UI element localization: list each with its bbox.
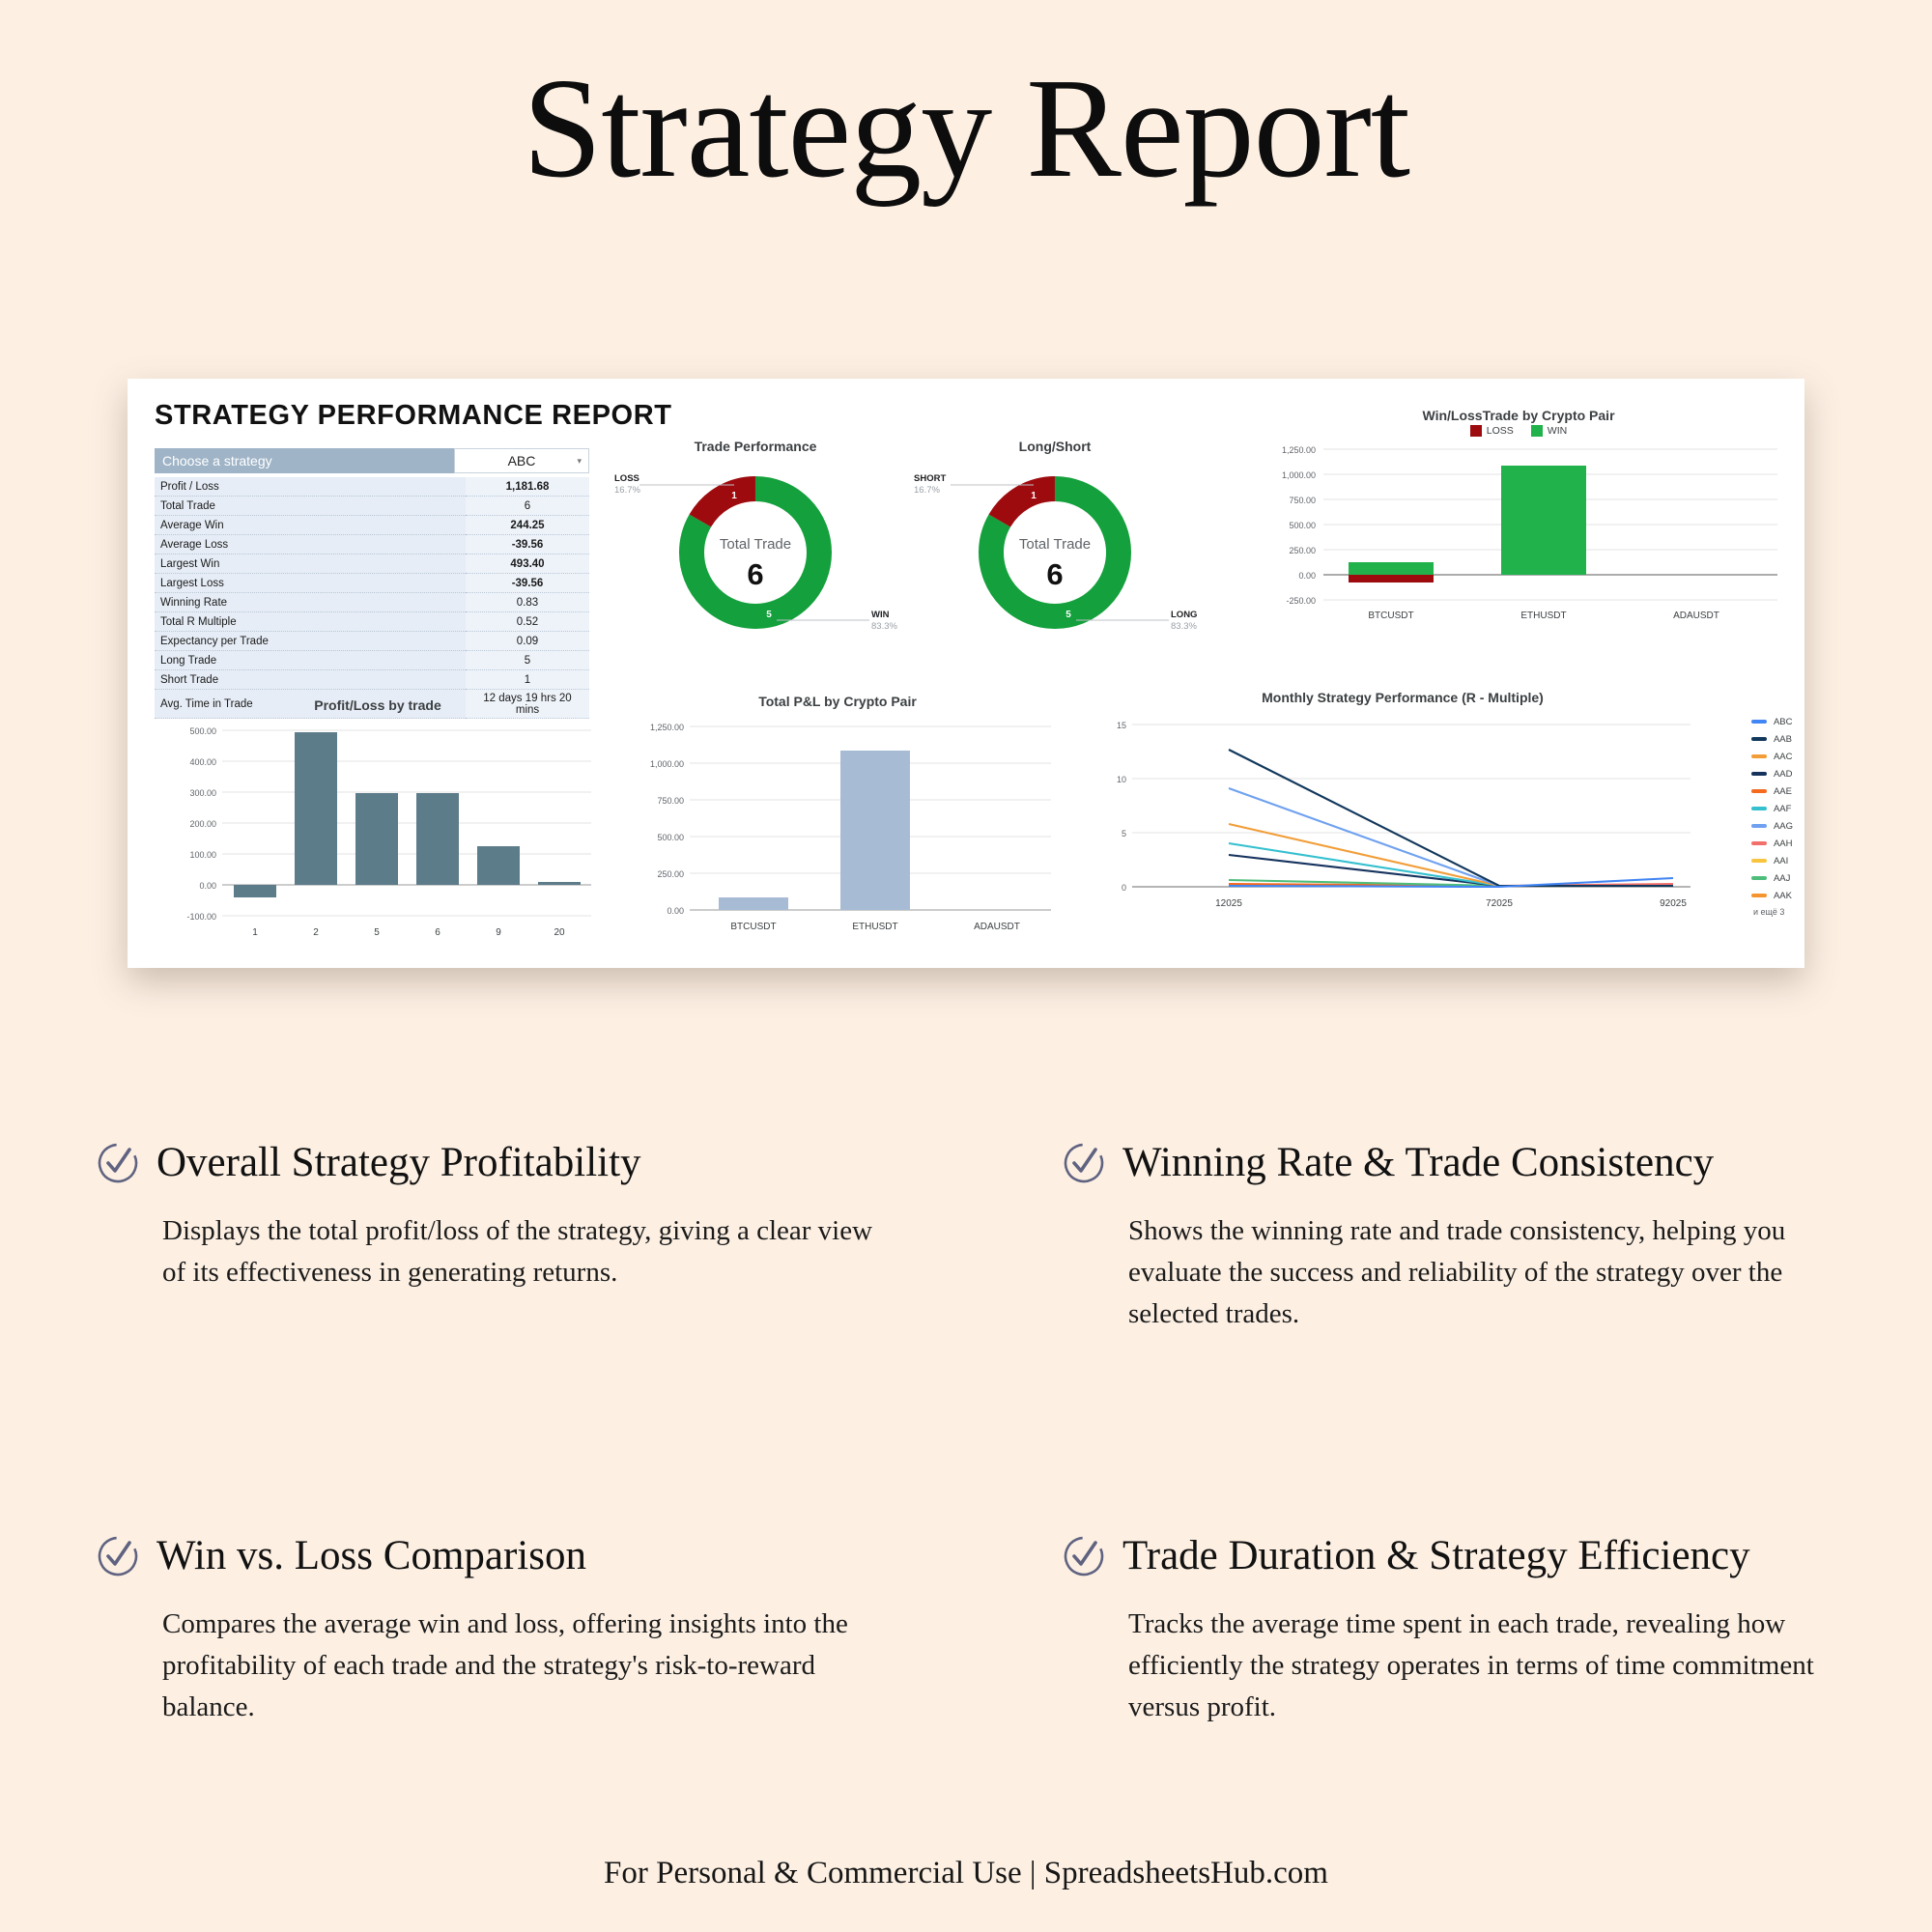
svg-text:1,000.00: 1,000.00 bbox=[650, 759, 684, 769]
feature-title: Trade Duration & Strategy Efficiency bbox=[1122, 1533, 1750, 1578]
metric-value: 5 bbox=[466, 651, 589, 670]
table-row: Largest Loss-39.56 bbox=[155, 574, 589, 593]
feature-title: Win vs. Loss Comparison bbox=[156, 1533, 586, 1578]
callout-short-percent: 16.7% bbox=[914, 485, 940, 496]
donut-loss-value: 1 bbox=[731, 491, 737, 501]
metric-label: Total R Multiple bbox=[155, 612, 466, 632]
svg-text:2: 2 bbox=[313, 927, 319, 938]
metrics-table: Profit / Loss1,181.68Total Trade6Average… bbox=[155, 477, 589, 719]
metric-value: 1 bbox=[466, 670, 589, 690]
svg-text:1,250.00: 1,250.00 bbox=[1282, 445, 1316, 455]
legend-swatch-AAG bbox=[1751, 824, 1767, 828]
table-row: Total Trade6 bbox=[155, 497, 589, 516]
legend-swatch-AAD bbox=[1751, 772, 1767, 776]
svg-text:500.00: 500.00 bbox=[1289, 521, 1316, 530]
donut-center-label: Total Trade bbox=[720, 536, 791, 553]
feature-body: Compares the average win and loss, offer… bbox=[162, 1604, 896, 1728]
svg-text:1,250.00: 1,250.00 bbox=[650, 723, 684, 732]
y-axis-ticks: 1,250.00 1,000.00 750.00 500.00 250.00 0… bbox=[1282, 445, 1316, 606]
svg-text:5: 5 bbox=[374, 927, 380, 938]
metric-value: 0.09 bbox=[466, 632, 589, 651]
legend-item-ABC[interactable]: ABC bbox=[1751, 713, 1793, 730]
table-row: Winning Rate0.83 bbox=[155, 593, 589, 612]
metric-value: 6 bbox=[466, 497, 589, 516]
feature-title: Winning Rate & Trade Consistency bbox=[1122, 1140, 1714, 1185]
feature-title: Overall Strategy Profitability bbox=[156, 1140, 641, 1185]
metric-label: Profit / Loss bbox=[155, 477, 466, 497]
donut-win-value: 5 bbox=[766, 610, 772, 620]
barchart-winloss: 1,250.00 1,000.00 750.00 500.00 250.00 0… bbox=[1248, 439, 1789, 628]
chart-monthly-r-multiple: Monthly Strategy Performance (R - Multip… bbox=[1094, 690, 1799, 944]
svg-text:10: 10 bbox=[1117, 775, 1126, 784]
strategy-picker-row: Choose a strategy ABC ▾ bbox=[155, 448, 589, 473]
legend-item-AAG[interactable]: AAG bbox=[1751, 817, 1793, 835]
feature-card-2: Win vs. Loss Comparison Compares the ave… bbox=[0, 1533, 966, 1728]
legend-item-AAH[interactable]: AAH bbox=[1751, 835, 1793, 852]
legend-item-AAK[interactable]: AAK bbox=[1751, 887, 1793, 904]
strategy-select[interactable]: ABC ▾ bbox=[454, 448, 589, 473]
legend-swatch-AAJ bbox=[1751, 876, 1767, 880]
bar-trade-5 bbox=[355, 793, 398, 885]
chart-title: Total P&L by Crypto Pair bbox=[611, 694, 1065, 709]
svg-text:ADAUSDT: ADAUSDT bbox=[1673, 611, 1719, 621]
svg-text:12025: 12025 bbox=[1215, 898, 1242, 909]
svg-text:300.00: 300.00 bbox=[189, 788, 216, 798]
bar-trade-1 bbox=[234, 885, 276, 897]
metric-label: Long Trade bbox=[155, 651, 466, 670]
callout-win-label: WIN bbox=[871, 610, 890, 620]
callout-win-percent: 83.3% bbox=[871, 621, 897, 632]
chart-title: Profit/Loss by trade bbox=[151, 697, 605, 713]
feature-body: Displays the total profit/loss of the st… bbox=[162, 1210, 896, 1293]
donut-short-value: 1 bbox=[1031, 491, 1037, 501]
y-axis-ticks: 1,250.00 1,000.00 750.00 500.00 250.00 0… bbox=[650, 723, 684, 916]
svg-text:0.00: 0.00 bbox=[667, 906, 684, 916]
svg-text:20: 20 bbox=[554, 927, 565, 938]
svg-text:200.00: 200.00 bbox=[189, 819, 216, 829]
legend-item-AAJ[interactable]: AAJ bbox=[1751, 869, 1793, 887]
gridlines bbox=[222, 730, 591, 916]
gridlines bbox=[1132, 724, 1690, 833]
legend-swatch-AAI bbox=[1751, 859, 1767, 863]
legend-label-AAB: AAB bbox=[1774, 734, 1792, 745]
legend-label-AAG: AAG bbox=[1774, 821, 1793, 832]
svg-text:0.00: 0.00 bbox=[199, 881, 216, 891]
legend-swatch-loss bbox=[1470, 425, 1482, 437]
bar-trade-9 bbox=[477, 846, 520, 885]
table-row: Average Loss-39.56 bbox=[155, 535, 589, 554]
chart-total-pl-by-pair: Total P&L by Crypto Pair 1,250.00 1,000.… bbox=[611, 694, 1065, 952]
page-title: Strategy Report bbox=[0, 0, 1932, 208]
legend-label-AAE: AAE bbox=[1774, 786, 1792, 797]
legend-label-AAK: AAK bbox=[1774, 891, 1792, 901]
table-row: Long Trade5 bbox=[155, 651, 589, 670]
svg-text:0: 0 bbox=[1122, 883, 1126, 893]
feature-card-1: Winning Rate & Trade Consistency Shows t… bbox=[966, 1140, 1932, 1335]
callout-long-percent: 83.3% bbox=[1171, 621, 1197, 632]
bar-win-ethusdt bbox=[1501, 466, 1586, 575]
svg-text:250.00: 250.00 bbox=[657, 869, 684, 879]
svg-text:400.00: 400.00 bbox=[189, 757, 216, 767]
legend-label-loss: LOSS bbox=[1487, 425, 1514, 437]
table-row: Largest Win493.40 bbox=[155, 554, 589, 574]
strategy-select-value: ABC bbox=[508, 453, 536, 469]
feature-card-0: Overall Strategy Profitability Displays … bbox=[0, 1140, 966, 1335]
dashboard-card: STRATEGY PERFORMANCE REPORT Choose a str… bbox=[128, 379, 1804, 968]
table-row: Expectancy per Trade0.09 bbox=[155, 632, 589, 651]
donut-center-value: 6 bbox=[747, 557, 763, 591]
chart-winloss-by-pair: Win/LossTrade by Crypto Pair LOSS WIN 1,… bbox=[1248, 408, 1789, 633]
features-section: Overall Strategy Profitability Displays … bbox=[0, 1140, 1932, 1727]
line-AAC bbox=[1229, 824, 1673, 886]
donut-trade-performance: Total Trade 6 1 5 LOSS 16.7% WIN 83.3% bbox=[611, 456, 900, 649]
features-row-1: Overall Strategy Profitability Displays … bbox=[0, 1140, 1932, 1335]
check-circle-icon bbox=[97, 1142, 139, 1189]
callout-long-label: LONG bbox=[1171, 610, 1197, 620]
chart-legend: LOSS WIN bbox=[1248, 425, 1789, 437]
legend-item-AAF[interactable]: AAF bbox=[1751, 800, 1793, 817]
svg-text:BTCUSDT: BTCUSDT bbox=[730, 922, 776, 932]
callout-loss-percent: 16.7% bbox=[614, 485, 640, 496]
legend-item-AAD[interactable]: AAD bbox=[1751, 765, 1793, 782]
metric-label: Average Win bbox=[155, 516, 466, 535]
legend-item-loss[interactable]: LOSS bbox=[1470, 425, 1514, 437]
metrics-panel: Choose a strategy ABC ▾ Profit / Loss1,1… bbox=[155, 448, 589, 719]
svg-text:-250.00: -250.00 bbox=[1286, 596, 1316, 606]
y-axis-ticks: 15 10 5 0 bbox=[1117, 721, 1126, 893]
legend-item-AAE[interactable]: AAE bbox=[1751, 782, 1793, 800]
chart-pl-by-trade: Profit/Loss by trade 500.00 400.00 300.0… bbox=[151, 697, 605, 952]
table-row: Total R Multiple0.52 bbox=[155, 612, 589, 632]
svg-text:ADAUSDT: ADAUSDT bbox=[974, 922, 1020, 932]
bar-trade-6 bbox=[416, 793, 459, 885]
metric-label: Expectancy per Trade bbox=[155, 632, 466, 651]
strategy-picker-label: Choose a strategy bbox=[155, 448, 454, 473]
bar-trade-20 bbox=[538, 882, 581, 885]
metric-value: -39.56 bbox=[466, 574, 589, 593]
svg-text:750.00: 750.00 bbox=[657, 796, 684, 806]
svg-text:100.00: 100.00 bbox=[189, 850, 216, 860]
chart-title: Monthly Strategy Performance (R - Multip… bbox=[1007, 690, 1799, 705]
table-row: Short Trade1 bbox=[155, 670, 589, 690]
check-circle-icon bbox=[1063, 1535, 1105, 1582]
feature-body: Tracks the average time spent in each tr… bbox=[1128, 1604, 1862, 1728]
features-row-2: Win vs. Loss Comparison Compares the ave… bbox=[0, 1533, 1932, 1728]
chart-title: Long/Short bbox=[910, 439, 1200, 454]
legend-swatch-win bbox=[1531, 425, 1543, 437]
legend-label-AAD: AAD bbox=[1774, 769, 1793, 780]
metric-label: Total Trade bbox=[155, 497, 466, 516]
series-lines bbox=[1229, 750, 1673, 887]
line-AAB bbox=[1229, 750, 1673, 886]
svg-text:72025: 72025 bbox=[1486, 898, 1513, 909]
footer-text: For Personal & Commercial Use | Spreadsh… bbox=[0, 1856, 1932, 1891]
legend-label-AAI: AAI bbox=[1774, 856, 1788, 867]
legend-item-win[interactable]: WIN bbox=[1531, 425, 1567, 437]
svg-text:5: 5 bbox=[1122, 829, 1126, 838]
metric-value: 0.52 bbox=[466, 612, 589, 632]
legend-label-win: WIN bbox=[1548, 425, 1567, 437]
legend-swatch-AAB bbox=[1751, 737, 1767, 741]
legend-item-AAC[interactable]: AAC bbox=[1751, 748, 1793, 765]
svg-text:15: 15 bbox=[1117, 721, 1126, 730]
bar-trade-2 bbox=[295, 732, 337, 885]
barchart-pl-by-trade: 500.00 400.00 300.00 200.00 100.00 0.00 … bbox=[151, 715, 605, 947]
legend-swatch-ABC bbox=[1751, 720, 1767, 724]
chevron-down-icon: ▾ bbox=[577, 456, 582, 467]
legend-swatch-AAE bbox=[1751, 789, 1767, 793]
svg-text:BTCUSDT: BTCUSDT bbox=[1368, 611, 1413, 621]
bar-ethusdt bbox=[840, 751, 910, 910]
legend-swatch-AAC bbox=[1751, 754, 1767, 758]
donut-center-label: Total Trade bbox=[1019, 536, 1091, 553]
donut-long-short: Total Trade 6 1 5 SHORT 16.7% LONG 83.3% bbox=[910, 456, 1200, 649]
svg-text:ETHUSDT: ETHUSDT bbox=[1520, 611, 1566, 621]
svg-text:250.00: 250.00 bbox=[1289, 546, 1316, 555]
chart-long-short: Long/Short Total Trade 6 1 5 SHORT 16.7%… bbox=[910, 439, 1200, 654]
line-AAG bbox=[1229, 788, 1673, 886]
metric-value: 493.40 bbox=[466, 554, 589, 574]
chart-title: Win/LossTrade by Crypto Pair bbox=[1248, 408, 1789, 423]
metric-value: 1,181.68 bbox=[466, 477, 589, 497]
y-axis-ticks: 500.00 400.00 300.00 200.00 100.00 0.00 … bbox=[186, 726, 216, 922]
callout-loss-label: LOSS bbox=[614, 473, 639, 484]
svg-text:6: 6 bbox=[435, 927, 440, 938]
linechart-monthly: 15 10 5 0 bbox=[1094, 707, 1712, 939]
legend-label-AAJ: AAJ bbox=[1774, 873, 1790, 884]
svg-text:500.00: 500.00 bbox=[189, 726, 216, 736]
bar-btcusdt bbox=[719, 897, 788, 910]
metric-label: Largest Win bbox=[155, 554, 466, 574]
legend-label-AAC: AAC bbox=[1774, 752, 1793, 762]
metric-label: Short Trade bbox=[155, 670, 466, 690]
legend-label-ABC: ABC bbox=[1774, 717, 1793, 727]
legend-more-label: и ещё 3 bbox=[1753, 907, 1793, 917]
metric-label: Average Loss bbox=[155, 535, 466, 554]
line-chart-legend: ABCAABAACAADAAEAAFAAGAAHAAIAAJAAK и ещё … bbox=[1751, 713, 1793, 917]
svg-text:500.00: 500.00 bbox=[657, 833, 684, 842]
check-circle-icon bbox=[97, 1535, 139, 1582]
barchart-total-pl: 1,250.00 1,000.00 750.00 500.00 250.00 0… bbox=[611, 711, 1065, 947]
svg-text:92025: 92025 bbox=[1660, 898, 1687, 909]
legend-swatch-AAF bbox=[1751, 807, 1767, 810]
metric-value: -39.56 bbox=[466, 535, 589, 554]
metric-label: Largest Loss bbox=[155, 574, 466, 593]
svg-text:-100.00: -100.00 bbox=[186, 912, 216, 922]
feature-card-3: Trade Duration & Strategy Efficiency Tra… bbox=[966, 1533, 1932, 1728]
legend-swatch-AAH bbox=[1751, 841, 1767, 845]
check-circle-icon bbox=[1063, 1142, 1105, 1189]
bar-loss-btcusdt bbox=[1349, 575, 1434, 582]
report-heading: STRATEGY PERFORMANCE REPORT bbox=[155, 400, 672, 432]
table-row: Average Win244.25 bbox=[155, 516, 589, 535]
svg-text:0.00: 0.00 bbox=[1298, 571, 1316, 581]
svg-text:ETHUSDT: ETHUSDT bbox=[852, 922, 897, 932]
chart-trade-performance: Trade Performance Total Trade 6 1 5 LOSS… bbox=[611, 439, 900, 654]
donut-long-value: 5 bbox=[1065, 610, 1071, 620]
legend-label-AAF: AAF bbox=[1774, 804, 1791, 814]
legend-item-AAB[interactable]: AAB bbox=[1751, 730, 1793, 748]
legend-item-AAI[interactable]: AAI bbox=[1751, 852, 1793, 869]
chart-title: Trade Performance bbox=[611, 439, 900, 454]
legend-label-AAH: AAH bbox=[1774, 838, 1793, 849]
svg-text:1,000.00: 1,000.00 bbox=[1282, 470, 1316, 480]
donut-center-value: 6 bbox=[1046, 557, 1063, 591]
table-row: Profit / Loss1,181.68 bbox=[155, 477, 589, 497]
bar-win-btcusdt bbox=[1349, 562, 1434, 575]
legend-swatch-AAK bbox=[1751, 894, 1767, 897]
svg-text:750.00: 750.00 bbox=[1289, 496, 1316, 505]
svg-text:9: 9 bbox=[496, 927, 501, 938]
svg-text:1: 1 bbox=[252, 927, 258, 938]
metric-value: 0.83 bbox=[466, 593, 589, 612]
metric-value: 244.25 bbox=[466, 516, 589, 535]
metric-label: Winning Rate bbox=[155, 593, 466, 612]
callout-short-label: SHORT bbox=[914, 473, 946, 484]
feature-body: Shows the winning rate and trade consist… bbox=[1128, 1210, 1862, 1335]
